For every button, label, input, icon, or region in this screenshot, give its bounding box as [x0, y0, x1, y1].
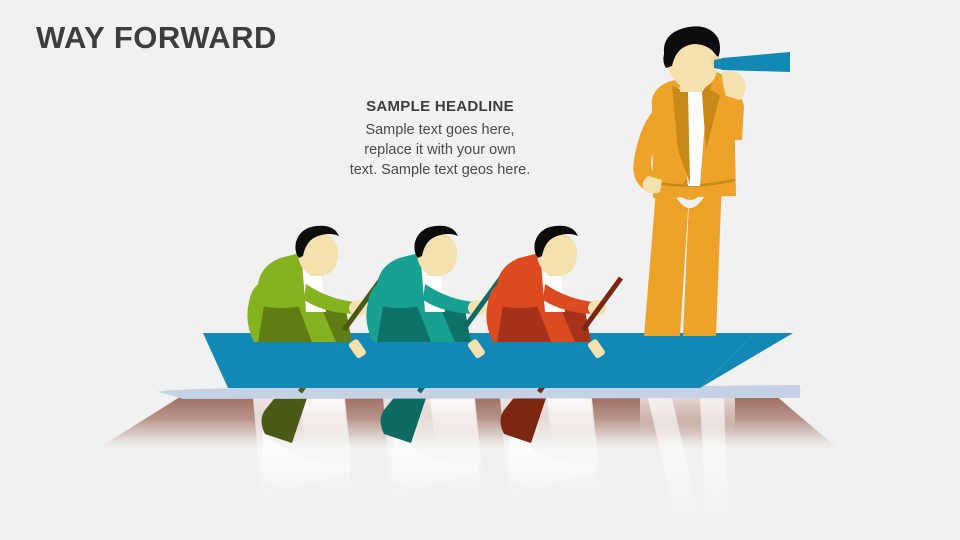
reflection-leader — [640, 396, 735, 520]
slide-canvas: WAY FORWARD SAMPLE HEADLINE Sample text … — [0, 0, 960, 540]
illustration-rowing-boat-with-leader — [0, 0, 960, 540]
leader-with-telescope — [633, 26, 790, 336]
water-reflection — [92, 395, 842, 520]
